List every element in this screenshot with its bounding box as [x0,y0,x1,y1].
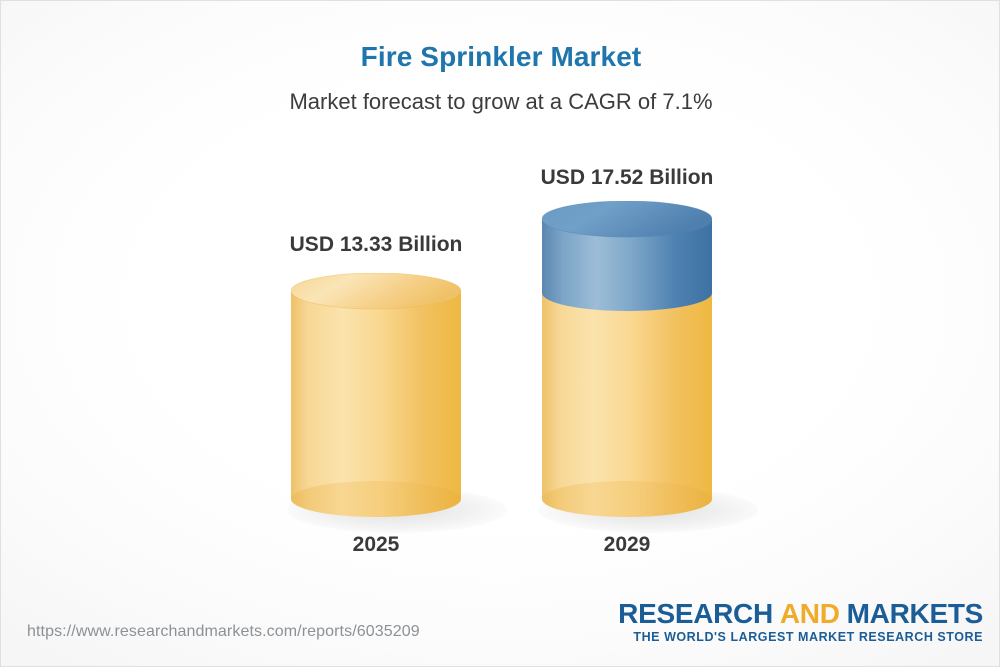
bar-2029-shape [542,201,712,517]
research-and-markets-logo[interactable]: RESEARCHANDMARKETS THE WORLD'S LARGEST M… [618,599,983,644]
bar-category-label-2025: 2025 [276,533,476,557]
bar-2025-shape [291,273,461,517]
report-url[interactable]: https://www.researchandmarkets.com/repor… [27,623,420,641]
bar-value-label-2029: USD 17.52 Billion [527,166,727,190]
chart-canvas: Fire Sprinkler Market Market forecast to… [0,0,1000,667]
plot-area: USD 13.33 Billion 2025 [1,1,1000,667]
bar-category-label-2029: 2029 [527,533,727,557]
bar-value-label-2025: USD 13.33 Billion [276,233,476,257]
bar-2029[interactable] [542,201,712,517]
logo-tagline: THE WORLD'S LARGEST MARKET RESEARCH STOR… [618,630,983,644]
bar-2025[interactable] [291,273,461,517]
logo-wordmark: RESEARCHANDMARKETS [618,599,983,628]
logo-word-research: RESEARCH [618,598,773,629]
logo-word-markets: MARKETS [847,598,983,629]
logo-word-and: AND [780,598,840,629]
